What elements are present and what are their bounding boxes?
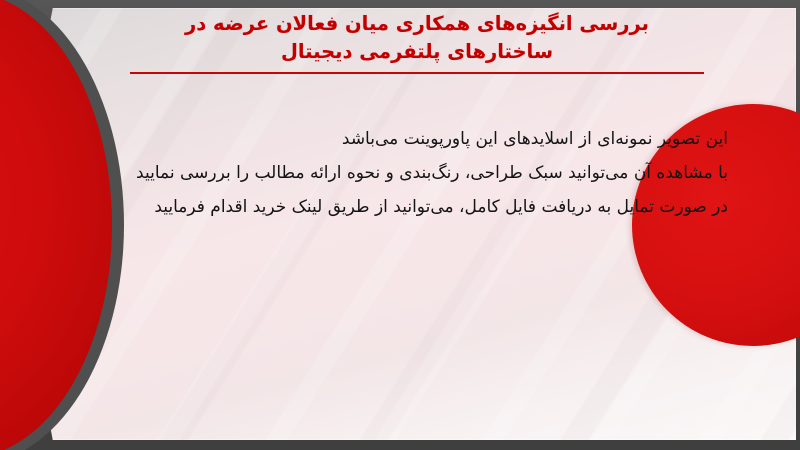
body-text-line-3: در صورت تمایل به دریافت فایل کامل، می‌تو…	[88, 190, 728, 224]
title-underline-rule	[130, 72, 704, 74]
presentation-slide: بررسی انگیزه‌های همکاری میان فعالان عرضه…	[0, 0, 800, 450]
slide-body-text: این تصویر نمونه‌ای از اسلایدهای این پاور…	[88, 122, 728, 224]
slide-title: بررسی انگیزه‌های همکاری میان فعالان عرضه…	[130, 10, 704, 74]
body-text-line-1: این تصویر نمونه‌ای از اسلایدهای این پاور…	[88, 122, 728, 156]
body-text-line-2: با مشاهده آن می‌توانید سبک طراحی، رنگ‌بن…	[88, 156, 728, 190]
slide-title-line-1: بررسی انگیزه‌های همکاری میان فعالان عرضه…	[130, 10, 704, 38]
slide-title-line-2: ساختارهای پلتفرمی دیجیتال	[130, 38, 704, 66]
